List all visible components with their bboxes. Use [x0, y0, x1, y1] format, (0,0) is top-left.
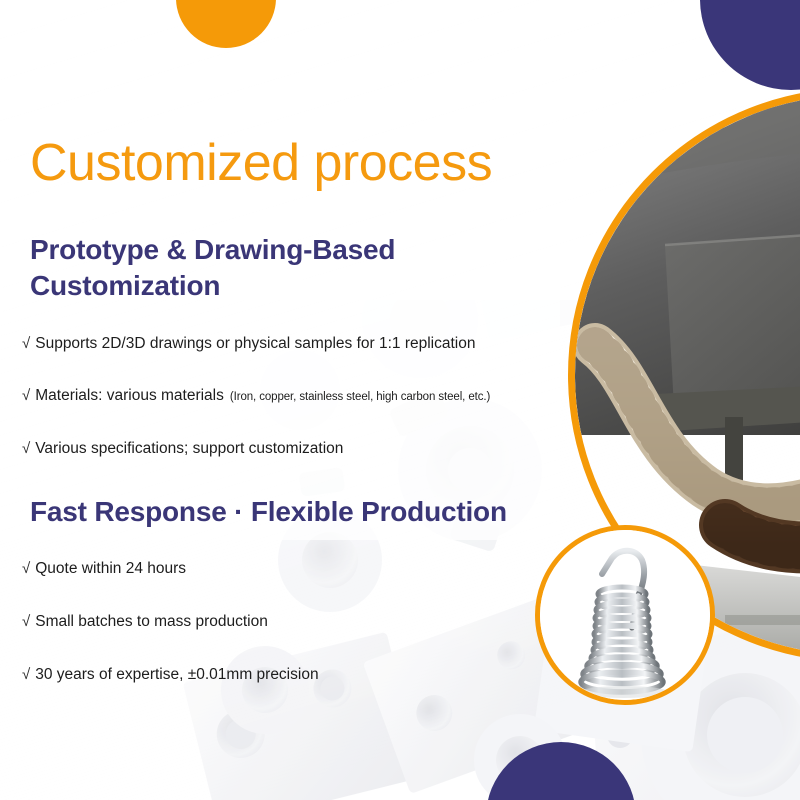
- check-icon: √: [22, 613, 30, 631]
- section-prototype-customization: Prototype & Drawing-Based Customization …: [0, 232, 620, 493]
- check-icon: √: [22, 335, 30, 353]
- text-content: Customized process Prototype & Drawing-B…: [0, 0, 800, 800]
- section-fast-response: Fast Response · Flexible Production √Quo…: [0, 494, 620, 718]
- list-item: √Materials: various materials(Iron, copp…: [22, 387, 620, 406]
- list-item: √Small batches to mass production: [22, 613, 620, 632]
- bullet-text: Small batches to mass production: [35, 613, 268, 630]
- list-item: √Quote within 24 hours: [22, 560, 620, 579]
- bullet-list: √Supports 2D/3D drawings or physical sam…: [0, 335, 620, 459]
- page-title: Customized process: [30, 136, 492, 191]
- list-item: √30 years of expertise, ±0.01mm precisio…: [22, 666, 620, 685]
- list-item: √Supports 2D/3D drawings or physical sam…: [22, 335, 620, 354]
- bullet-text: 30 years of expertise, ±0.01mm precision: [35, 666, 318, 683]
- check-icon: √: [22, 387, 30, 405]
- check-icon: √: [22, 440, 30, 458]
- bullet-text: Materials: various materials: [35, 387, 224, 404]
- bullet-text: Various specifications; support customiz…: [35, 440, 343, 457]
- bullet-text: Supports 2D/3D drawings or physical samp…: [35, 335, 475, 352]
- bullet-list: √Quote within 24 hours √Small batches to…: [0, 560, 620, 684]
- bullet-note: (Iron, copper, stainless steel, high car…: [230, 391, 490, 403]
- section-heading: Fast Response · Flexible Production: [30, 494, 620, 530]
- list-item: √Various specifications; support customi…: [22, 440, 620, 459]
- poster-canvas: Customized process Prototype & Drawing-B…: [0, 0, 800, 800]
- check-icon: √: [22, 666, 30, 684]
- check-icon: √: [22, 560, 30, 578]
- section-heading: Prototype & Drawing-Based Customization: [30, 232, 500, 305]
- bullet-text: Quote within 24 hours: [35, 560, 186, 577]
